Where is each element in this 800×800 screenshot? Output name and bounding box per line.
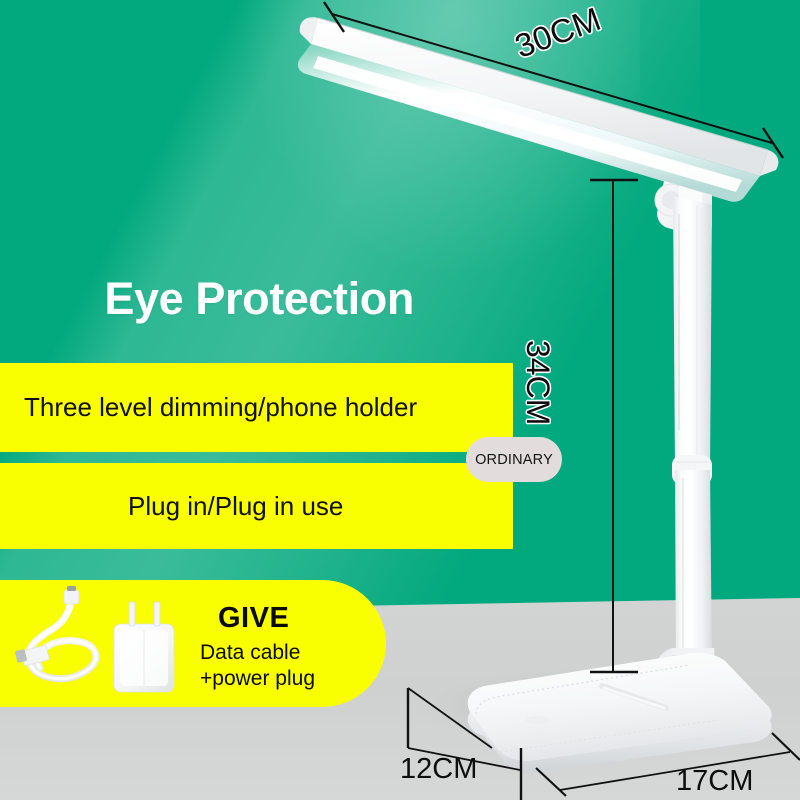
gift-title: GIVE	[218, 602, 289, 635]
ordinary-badge: ORDINARY	[466, 437, 562, 482]
feature-text-1: Three level dimming/phone holder	[24, 392, 417, 423]
headline-line-1: Eye Protection	[104, 273, 414, 324]
gift-accessories-illustration	[14, 586, 204, 704]
power-adapter-icon	[114, 602, 174, 692]
usb-cable-icon	[15, 586, 96, 679]
product-promo-image: Eye Protection Plug-in Model Three level…	[0, 0, 800, 800]
dimension-label-17cm: 17CM	[676, 765, 753, 798]
feature-banner-1: Three level dimming/phone holder	[0, 363, 513, 452]
dimension-label-12cm: 12CM	[400, 753, 477, 786]
feature-banner-2: Plug in/Plug in use	[0, 463, 513, 549]
gift-subtitle: Data cable +power plug	[200, 640, 315, 693]
feature-text-2: Plug in/Plug in use	[128, 491, 343, 522]
dimension-label-34cm: 34CM	[519, 340, 556, 425]
